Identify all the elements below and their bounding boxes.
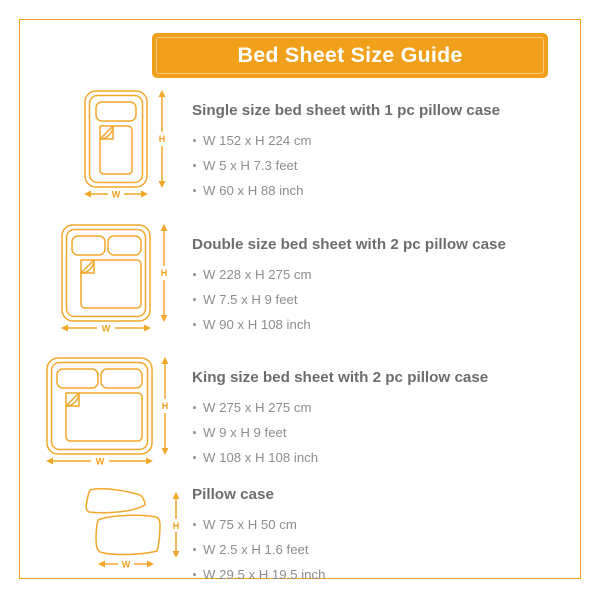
section-single: H W Single size bed sheet with 1 pc pill… bbox=[0, 88, 600, 206]
height-label-king: H bbox=[162, 401, 169, 411]
king-bed-diagram: H W bbox=[44, 355, 187, 467]
section-double: H W Double size bed sheet with 2 pc pill… bbox=[0, 222, 600, 340]
single-bullet-list: W 152 x H 224 cm W 5 x H 7.3 feet W 60 x… bbox=[192, 128, 572, 203]
list-item: W 75 x H 50 cm bbox=[192, 512, 572, 537]
width-label-king: W bbox=[96, 457, 105, 467]
list-item: W 228 x H 275 cm bbox=[192, 262, 572, 287]
height-label-pillow: H bbox=[173, 521, 180, 531]
page-title-banner: Bed Sheet Size Guide bbox=[152, 33, 548, 78]
pillow-bullet-list: W 75 x H 50 cm W 2.5 x H 1.6 feet W 29.5… bbox=[192, 512, 572, 587]
double-text-block: Double size bed sheet with 2 pc pillow c… bbox=[192, 222, 572, 337]
height-label-double: H bbox=[161, 268, 168, 278]
list-item: W 60 x H 88 inch bbox=[192, 178, 572, 203]
list-item: W 9 x H 9 feet bbox=[192, 420, 572, 445]
page-title: Bed Sheet Size Guide bbox=[237, 43, 462, 68]
single-bed-diagram: H W bbox=[82, 88, 187, 200]
list-item: W 90 x H 108 inch bbox=[192, 312, 572, 337]
double-bed-diagram: H W bbox=[59, 222, 187, 334]
width-label-single: W bbox=[112, 190, 121, 200]
list-item: W 5 x H 7.3 feet bbox=[192, 153, 572, 178]
section-pillow: H W Pillow case W 75 x H 50 cm W 2.5 x H… bbox=[0, 478, 600, 578]
king-title: King size bed sheet with 2 pc pillow cas… bbox=[192, 369, 572, 387]
pillow-case-diagram: H W bbox=[80, 484, 187, 570]
king-text-block: King size bed sheet with 2 pc pillow cas… bbox=[192, 355, 572, 470]
double-bullet-list: W 228 x H 275 cm W 7.5 x H 9 feet W 90 x… bbox=[192, 262, 572, 337]
width-label-pillow: W bbox=[122, 560, 131, 570]
width-label-double: W bbox=[102, 324, 111, 334]
list-item: W 152 x H 224 cm bbox=[192, 128, 572, 153]
single-text-block: Single size bed sheet with 1 pc pillow c… bbox=[192, 88, 572, 203]
list-item: W 275 x H 275 cm bbox=[192, 395, 572, 420]
list-item: W 2.5 x H 1.6 feet bbox=[192, 537, 572, 562]
list-item: W 108 x H 108 inch bbox=[192, 445, 572, 470]
section-king: H W King size bed sheet with 2 pc pillow… bbox=[0, 355, 600, 473]
double-title: Double size bed sheet with 2 pc pillow c… bbox=[192, 236, 572, 254]
king-bullet-list: W 275 x H 275 cm W 9 x H 9 feet W 108 x … bbox=[192, 395, 572, 470]
bed-sheet-size-guide-page: Bed Sheet Size Guide bbox=[0, 0, 600, 599]
pillow-title: Pillow case bbox=[192, 486, 572, 504]
pillow-text-block: Pillow case W 75 x H 50 cm W 2.5 x H 1.6… bbox=[192, 478, 572, 587]
list-item: W 7.5 x H 9 feet bbox=[192, 287, 572, 312]
height-label-single: H bbox=[159, 134, 166, 144]
list-item: W 29.5 x H 19.5 inch bbox=[192, 562, 572, 587]
single-title: Single size bed sheet with 1 pc pillow c… bbox=[192, 102, 572, 120]
